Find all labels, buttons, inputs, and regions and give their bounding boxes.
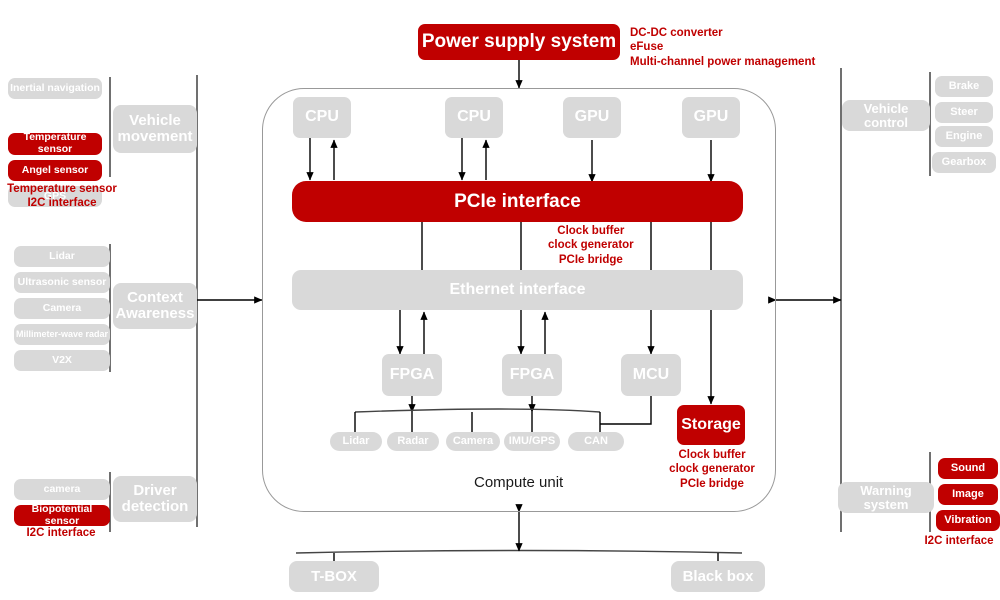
power-supply-annotation: DC-DC converter eFuse Multi-channel powe… bbox=[630, 26, 815, 69]
sensor-inertial-navigation[interactable]: Inertial navigation bbox=[8, 78, 102, 99]
actuator-brake[interactable]: Brake bbox=[935, 76, 993, 97]
warning-vibration[interactable]: Vibration bbox=[936, 510, 1000, 531]
accelerator-fpga-2[interactable]: FPGA bbox=[502, 354, 562, 396]
group-warning-system[interactable]: Warning system bbox=[838, 482, 934, 513]
sensor-millimeter-wave-radar[interactable]: Millimeter-wave radar bbox=[14, 324, 110, 345]
compute-unit-caption: Compute unit bbox=[474, 474, 563, 491]
warning-system-annotation: I2C interface bbox=[914, 534, 1000, 548]
vehicle-movement-annotation: Temperature sensor I2C interface bbox=[2, 182, 122, 211]
interface-lidar[interactable]: Lidar bbox=[330, 432, 382, 451]
actuator-gearbox[interactable]: Gearbox bbox=[932, 152, 996, 173]
ethernet-interface-bar[interactable]: Ethernet interface bbox=[292, 270, 743, 310]
accelerator-mcu[interactable]: MCU bbox=[621, 354, 681, 396]
processor-gpu-1[interactable]: GPU bbox=[563, 97, 621, 138]
bottom-item-black-box[interactable]: Black box bbox=[671, 561, 765, 592]
sensor-ultrasonic[interactable]: Ultrasonic sensor bbox=[14, 272, 110, 293]
sensor-biopotential[interactable]: Biopotential sensor bbox=[14, 505, 110, 526]
interface-can[interactable]: CAN bbox=[568, 432, 624, 451]
accelerator-fpga-1[interactable]: FPGA bbox=[382, 354, 442, 396]
group-context-awareness[interactable]: Context Awareness bbox=[113, 283, 197, 329]
sensor-angel[interactable]: Angel sensor bbox=[8, 160, 102, 181]
sensor-driver-camera[interactable]: camera bbox=[14, 479, 110, 500]
group-driver-detection[interactable]: Driver detection bbox=[113, 476, 197, 522]
sensor-camera[interactable]: Camera bbox=[14, 298, 110, 319]
processor-cpu-2[interactable]: CPU bbox=[445, 97, 503, 138]
warning-image[interactable]: Image bbox=[938, 484, 998, 505]
group-vehicle-control[interactable]: Vehicle control bbox=[842, 100, 930, 131]
architecture-diagram: Compute unit Power supply system DC-DC c… bbox=[0, 0, 1000, 600]
storage-annotation: Clock buffer clock generator PCIe bridge bbox=[664, 448, 760, 491]
storage-block[interactable]: Storage bbox=[677, 405, 745, 445]
actuator-steer[interactable]: Steer bbox=[935, 102, 993, 123]
sensor-temperature-dup: Temperature sensor bbox=[8, 133, 102, 154]
pcie-annotation: Clock buffer clock generator PCIe bridge bbox=[548, 224, 634, 267]
group-vehicle-movement[interactable]: Vehicle movement bbox=[113, 105, 197, 153]
sensor-lidar[interactable]: Lidar bbox=[14, 246, 110, 267]
pcie-interface-bar[interactable]: PCIe interface bbox=[292, 181, 743, 222]
processor-gpu-2[interactable]: GPU bbox=[682, 97, 740, 138]
interface-radar[interactable]: Radar bbox=[387, 432, 439, 451]
bottom-item-tbox[interactable]: T-BOX bbox=[289, 561, 379, 592]
sensor-v2x[interactable]: V2X bbox=[14, 350, 110, 371]
power-supply-block[interactable]: Power supply system bbox=[418, 24, 620, 60]
actuator-engine[interactable]: Engine bbox=[935, 126, 993, 147]
processor-cpu-1[interactable]: CPU bbox=[293, 97, 351, 138]
interface-imu-gps[interactable]: IMU/GPS bbox=[504, 432, 560, 451]
warning-sound[interactable]: Sound bbox=[938, 458, 998, 479]
interface-camera[interactable]: Camera bbox=[446, 432, 500, 451]
driver-detection-annotation: I2C interface bbox=[6, 526, 116, 540]
